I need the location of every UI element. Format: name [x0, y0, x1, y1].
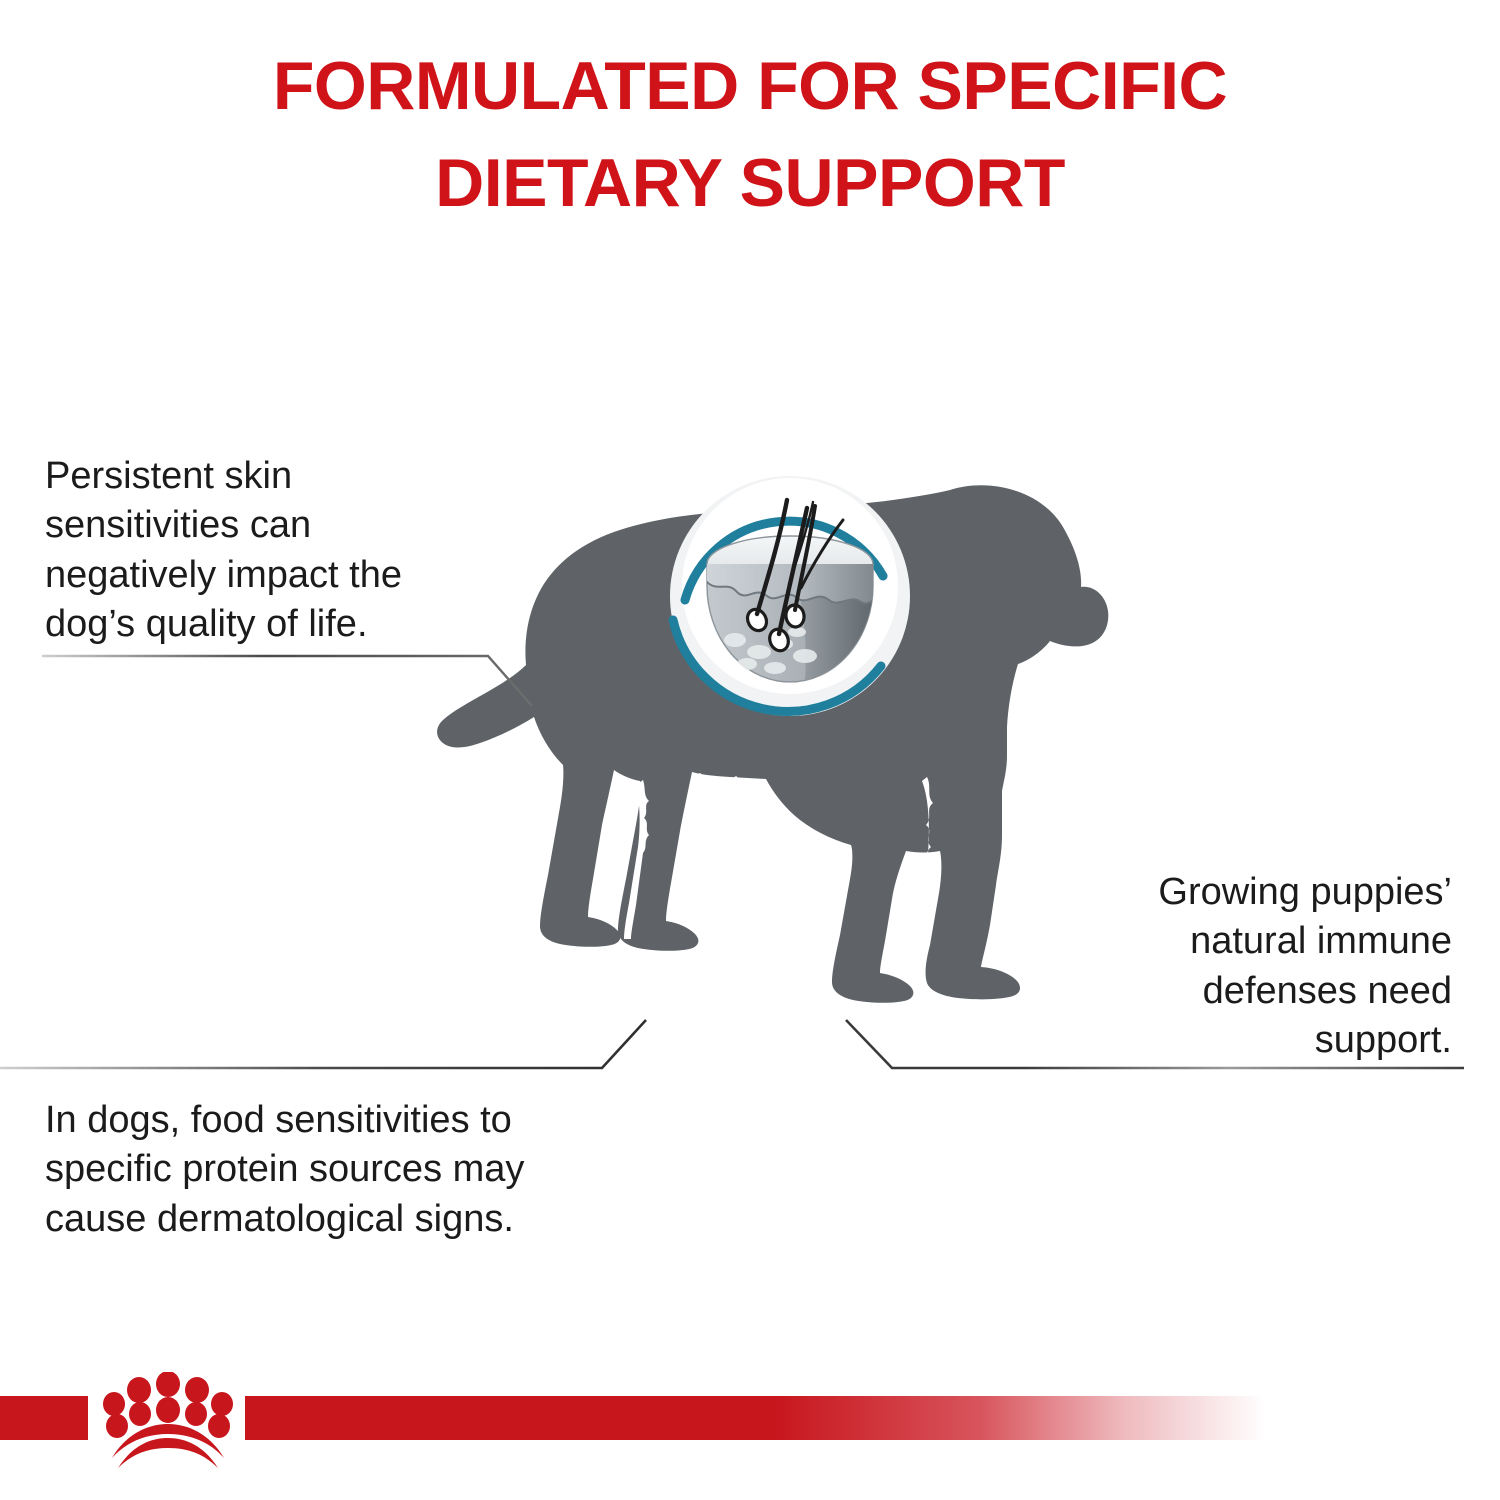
- brand-stripe-left: [0, 1396, 88, 1440]
- connector-line-skin: [40, 630, 580, 720]
- connector-line-immune: [830, 1010, 1470, 1100]
- page-title: FORMULATED FOR SPECIFIC DIETARY SUPPORT: [0, 38, 1500, 231]
- skin-cross-section-icon: [655, 468, 925, 718]
- callout-skin-sensitivities: Persistent skin sensitivities can negati…: [45, 452, 515, 650]
- royal-canin-crown-logo: [92, 1372, 244, 1472]
- skin-icon-svg: [655, 468, 925, 718]
- callout-food-sensitivities: In dogs, food sensitivities to specific …: [45, 1096, 635, 1244]
- crown-logo-svg: [92, 1372, 244, 1472]
- infographic-page: FORMULATED FOR SPECIFIC DIETARY SUPPORT: [0, 0, 1500, 1500]
- brand-stripe-right: [245, 1396, 1265, 1440]
- connector-line-food: [540, 1010, 740, 1100]
